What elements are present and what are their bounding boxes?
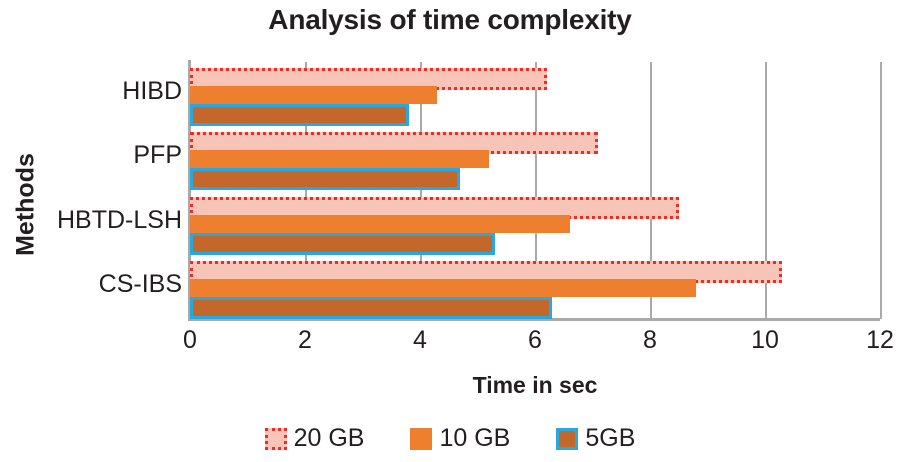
bar-group [190, 191, 880, 255]
legend-label: 10 GB [439, 424, 510, 453]
y-axis-tick-labels: HIBDPFPHBTD-LSHCS-IBS [0, 0, 182, 462]
x-axis-tick-label: 12 [850, 326, 900, 355]
x-axis-tick-label: 2 [275, 326, 335, 355]
y-axis-tick-label: PFP [133, 141, 182, 170]
legend-swatch-icon [265, 428, 287, 450]
x-axis-tick-label: 8 [620, 326, 680, 355]
legend-item[interactable]: 20 GB [265, 424, 365, 453]
bar-group [190, 126, 880, 190]
legend-label: 20 GB [294, 424, 365, 453]
bar [190, 86, 437, 104]
x-axis-title: Time in sec [190, 372, 880, 399]
bar-group [190, 255, 880, 319]
bar-group [190, 62, 880, 126]
legend-label: 5GB [585, 424, 635, 453]
x-axis-tick-label: 0 [160, 326, 220, 355]
y-axis-tick-label: CS-IBS [99, 270, 182, 299]
bar [190, 104, 409, 126]
chart-legend: 20 GB10 GB5GB [0, 424, 900, 453]
x-axis-tick-label: 6 [505, 326, 565, 355]
x-axis-tick-label: 10 [735, 326, 795, 355]
plot-area [190, 62, 880, 319]
bar [190, 279, 696, 297]
y-axis-tick-label: HIBD [122, 77, 182, 106]
legend-item[interactable]: 10 GB [410, 424, 510, 453]
legend-swatch-icon [410, 428, 432, 450]
legend-item[interactable]: 5GB [556, 424, 635, 453]
x-axis-tick-label: 4 [390, 326, 450, 355]
bar [190, 150, 489, 168]
y-axis-tick-label: HBTD-LSH [57, 206, 182, 235]
bar [190, 168, 460, 190]
chart-container: Analysis of time complexity Methods HIBD… [0, 0, 900, 462]
gridline [880, 62, 882, 319]
bar [190, 233, 495, 255]
legend-swatch-icon [556, 428, 578, 450]
bar [190, 297, 552, 319]
bar [190, 215, 570, 233]
